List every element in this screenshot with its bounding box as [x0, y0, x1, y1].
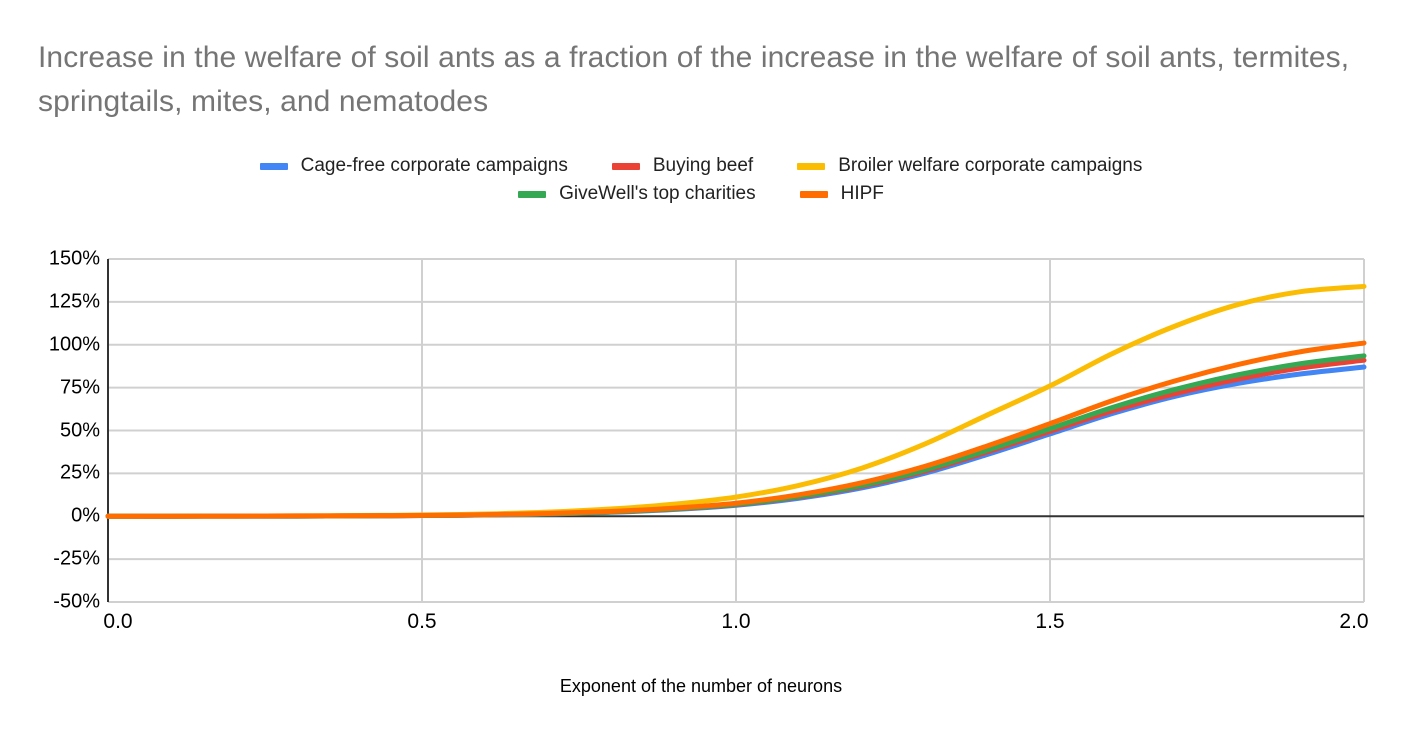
y-axis-tick-label: 0% [4, 505, 100, 528]
x-axis-tick-label: 1.0 [721, 610, 750, 634]
y-axis-tick-label: -50% [4, 591, 100, 614]
plot-area: 150%125%100%75%50%25%0%-25%-50% 0.00.51.… [0, 0, 1402, 742]
y-axis-tick-label: 150% [4, 248, 100, 271]
x-axis-tick-label: 2.0 [1339, 610, 1368, 634]
y-axis-tick-label: 125% [4, 290, 100, 313]
x-axis-tick-label: 0.0 [103, 610, 132, 634]
y-axis-tick-label: -25% [4, 548, 100, 571]
y-axis-tick-label: 50% [4, 419, 100, 442]
x-axis-tick-label: 1.5 [1035, 610, 1064, 634]
x-axis-tick-label: 0.5 [407, 610, 436, 634]
y-axis-tick-label: 75% [4, 376, 100, 399]
plot-svg [0, 0, 1402, 742]
y-axis-tick-label: 25% [4, 462, 100, 485]
y-axis-tick-label: 100% [4, 333, 100, 356]
chart-container: Increase in the welfare of soil ants as … [0, 0, 1402, 742]
x-axis-title: Exponent of the number of neurons [0, 676, 1402, 697]
